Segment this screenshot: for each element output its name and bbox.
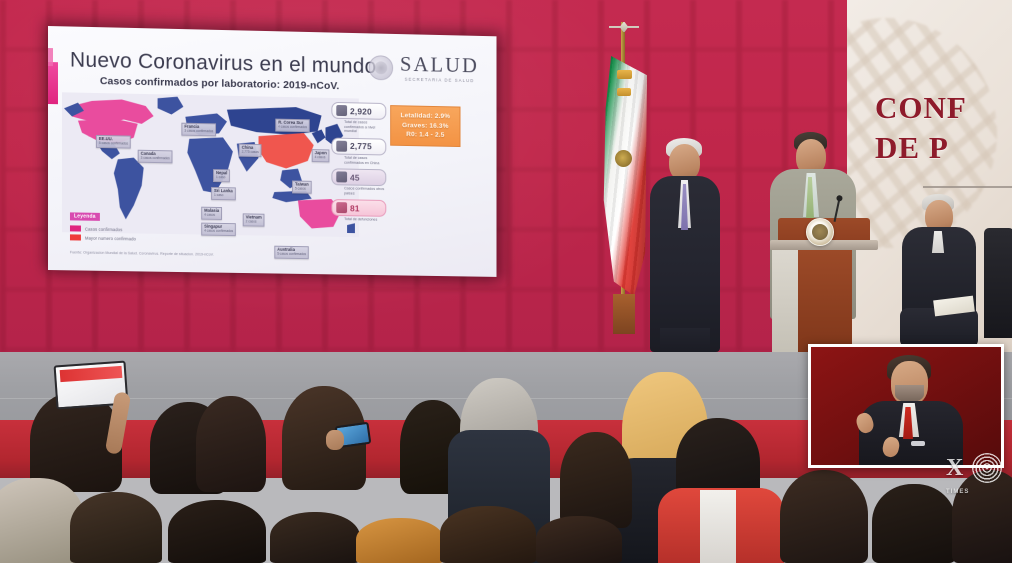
legend-title: Leyenda: [70, 212, 100, 221]
stat-value: 2,775: [350, 141, 372, 151]
map-label-sub: 4 casos confirmados: [278, 125, 307, 129]
map-label-sub: 5 casos confirmados: [277, 253, 306, 257]
legend-item: Mayor numero confirmado: [70, 234, 136, 241]
audience-member: [560, 432, 632, 528]
salud-subtitle: SECRETARIA DE SALUD: [400, 77, 479, 84]
stat-caption: Total de casos confirmados a nivel mundi…: [344, 120, 386, 135]
map-label-china: China2,775 casos: [239, 144, 262, 157]
salud-logo: SALUD SECRETARIA DE SALUD: [369, 53, 479, 83]
person-president: [648, 138, 722, 352]
slide-subtitle: Casos confirmados por laboratorio: 2019-…: [100, 75, 340, 92]
flag-tassel-upper: [617, 70, 632, 79]
map-label-malasia: Malasia4 casos: [201, 207, 222, 220]
salud-wordmark: SALUD: [400, 54, 479, 76]
indicator-graves: Graves: 16.3%: [395, 121, 456, 132]
mexican-coat-of-arms-icon: [806, 218, 834, 246]
slide-accent-tab: [48, 62, 58, 104]
audience-member: [536, 516, 622, 563]
map-label-sub: 3 casos confirmados: [141, 157, 170, 161]
audience-member: [440, 506, 536, 563]
map-label-eeuu: EE.UU.5 casos confirmados: [96, 135, 131, 148]
flag-eagle-icon: [615, 150, 632, 167]
conference-title: CONF DE P: [875, 88, 967, 167]
watermark-text: TIMES: [946, 489, 969, 495]
indicator-r0: R0: 1.4 - 2.5: [395, 130, 456, 141]
audience-member: [270, 512, 360, 563]
stat-china-confirmed: 2,775: [331, 137, 386, 155]
mexican-eagle-seal-icon: [369, 55, 393, 80]
stat-caption: Casos confirmados otros paises: [344, 187, 386, 197]
mexican-flag: [597, 22, 651, 312]
china-icon: [336, 141, 347, 152]
people-icon: [336, 172, 347, 183]
key-indicators-box: Letalidad: 2.9% Graves: 16.3% R0: 1.4 - …: [390, 105, 460, 147]
globe-icon: [336, 105, 347, 116]
watermark-radial-icon: [972, 453, 1002, 483]
map-label-singapur: Singapur4 casos confirmados: [201, 223, 236, 236]
hand-holding-phone: [326, 430, 344, 450]
stat-value: 45: [350, 172, 360, 182]
map-label-srilanka: Sri Lanka1 caso: [211, 187, 236, 200]
legend-swatch-max: [70, 234, 81, 240]
watermark-letter: X: [946, 455, 963, 482]
audience-member: [356, 518, 444, 563]
conference-title-line2: DE P: [875, 128, 967, 168]
stat-value: 2,920: [350, 106, 372, 116]
conference-title-line1: CONF: [875, 88, 967, 128]
stat-value: 81: [350, 203, 360, 213]
audience-member: [70, 492, 162, 563]
channel-watermark: X TIMES: [944, 445, 1006, 497]
map-label-sub: 1 caso: [214, 194, 233, 198]
legend-item: Casos confirmados: [70, 225, 136, 232]
beard: [895, 385, 924, 402]
map-label-sub: 4 casos: [315, 156, 327, 160]
map-label-sub: 5 casos confirmados: [99, 142, 128, 146]
flag-tassel-lower: [617, 88, 631, 96]
map-label-francia: Francia3 casos confirmados: [181, 123, 216, 136]
audience-member: [168, 500, 266, 563]
audience-member: [780, 470, 868, 563]
map-label-canada: Canada3 casos confirmados: [138, 150, 173, 163]
map-label-sub: 3 casos confirmados: [184, 130, 213, 134]
stat-deaths: 81: [331, 199, 386, 217]
map-label-nepal: Nepal1 caso: [213, 169, 230, 182]
empty-chair: [984, 228, 1012, 338]
broadcast-frame: CONF DE P Nuevo Coronavirus en el mundo …: [0, 0, 1012, 563]
skull-icon: [336, 202, 347, 213]
map-label-sub: 5 casos: [295, 187, 309, 191]
legend-swatch-confirmed: [70, 225, 81, 231]
slide-statistics: 2,920 Total de casos confirmados a nivel…: [331, 102, 386, 227]
map-legend: Leyenda Casos confirmados Mayor numero c…: [70, 204, 136, 241]
map-label-sub: 4 casos confirmados: [204, 229, 233, 233]
white-shirt-under-vest: [700, 490, 736, 563]
map-label-taiwan: Taiwan5 casos: [292, 180, 312, 193]
stat-caption: Total de casos confirmados en China: [344, 156, 386, 166]
stat-global-confirmed: 2,920: [331, 102, 386, 120]
slide-source-note: Fuente: Organizacion Mundial de la Salud…: [70, 250, 214, 256]
stat-other-countries: 45: [331, 168, 386, 186]
map-label-australia: Australia5 casos confirmados: [274, 246, 309, 259]
map-label-sub: 4 casos: [204, 214, 219, 218]
panel-divider: [923, 186, 1012, 188]
presentation-slide: Nuevo Coronavirus en el mundo Casos conf…: [48, 26, 496, 277]
stat-caption: Total de defunciones: [344, 217, 386, 222]
person-seated-official: [900, 194, 978, 344]
flag-stand: [613, 294, 635, 334]
slide-accent-tab-small: [48, 48, 53, 66]
legend-label-max: Mayor numero confirmado: [85, 235, 136, 241]
map-label-corea: R. Corea Sur4 casos confirmados: [275, 119, 310, 132]
map-label-sub: 2 casos: [246, 220, 262, 224]
audience-member: [196, 396, 266, 492]
flag-finial-icon: [609, 22, 639, 32]
wristwatch-icon: [911, 441, 925, 446]
map-label-vietnam: Vietnam2 casos: [243, 213, 265, 226]
map-label-sub: 1 caso: [216, 176, 227, 180]
map-label-japon: Japon4 casos: [312, 149, 330, 162]
map-label-sub: 2,775 casos: [242, 151, 259, 155]
legend-label-confirmed: Casos confirmados: [85, 226, 122, 232]
